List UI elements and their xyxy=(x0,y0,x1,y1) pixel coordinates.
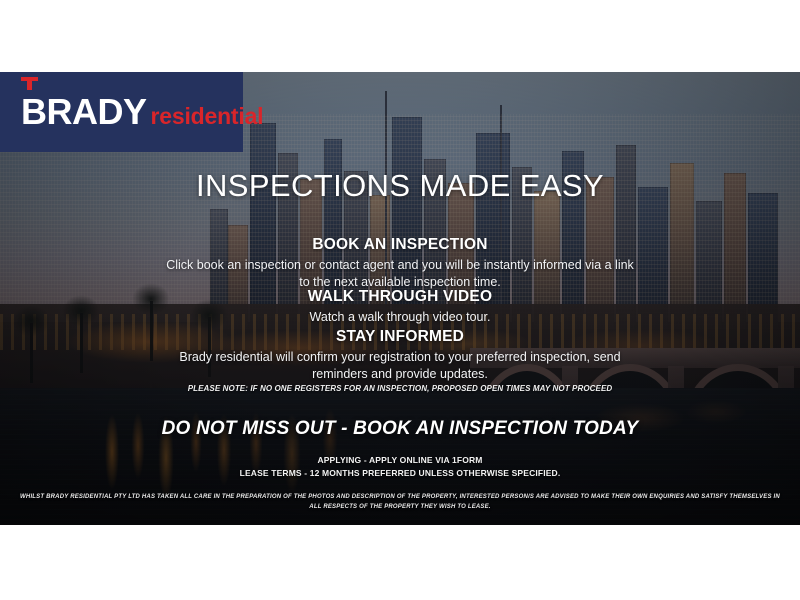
logo-secondary-text: residential xyxy=(151,105,264,128)
section-body-stay-informed: Brady residential will confirm your regi… xyxy=(165,349,635,382)
logo-primary-text: BRADY xyxy=(21,94,147,130)
applying-line: APPLYING - APPLY ONLINE VIA 1FORM xyxy=(0,454,800,467)
section-book-an-inspection: BOOK AN INSPECTION Click book an inspect… xyxy=(0,236,800,290)
lease-terms-line: LEASE TERMS - 12 MONTHS PREFERRED UNLESS… xyxy=(0,467,800,480)
section-body-book-an-inspection: Click book an inspection or contact agen… xyxy=(165,257,635,290)
terms-block: APPLYING - APPLY ONLINE VIA 1FORM LEASE … xyxy=(0,454,800,480)
please-note-text: PLEASE NOTE: IF NO ONE REGISTERS FOR AN … xyxy=(0,384,800,393)
section-body-walk-through-video: Watch a walk through video tour. xyxy=(165,309,635,326)
call-to-action-text: DO NOT MISS OUT - BOOK AN INSPECTION TOD… xyxy=(0,418,800,440)
screenshot-stage: BRADY residential INSPECTIONS MADE EASY … xyxy=(0,0,800,600)
page-headline: INSPECTIONS MADE EASY xyxy=(0,168,800,204)
brady-t-mark-icon xyxy=(21,77,38,90)
marketing-banner: BRADY residential INSPECTIONS MADE EASY … xyxy=(0,72,800,525)
section-stay-informed: STAY INFORMED Brady residential will con… xyxy=(0,328,800,382)
section-title-walk-through-video: WALK THROUGH VIDEO xyxy=(0,288,800,306)
brady-logo[interactable]: BRADY residential xyxy=(0,72,243,152)
section-title-stay-informed: STAY INFORMED xyxy=(0,328,800,346)
section-walk-through-video: WALK THROUGH VIDEO Watch a walk through … xyxy=(0,288,800,326)
section-title-book-an-inspection: BOOK AN INSPECTION xyxy=(0,236,800,254)
legal-disclaimer: WHILST BRADY RESIDENTIAL PTY LTD HAS TAK… xyxy=(18,492,782,512)
